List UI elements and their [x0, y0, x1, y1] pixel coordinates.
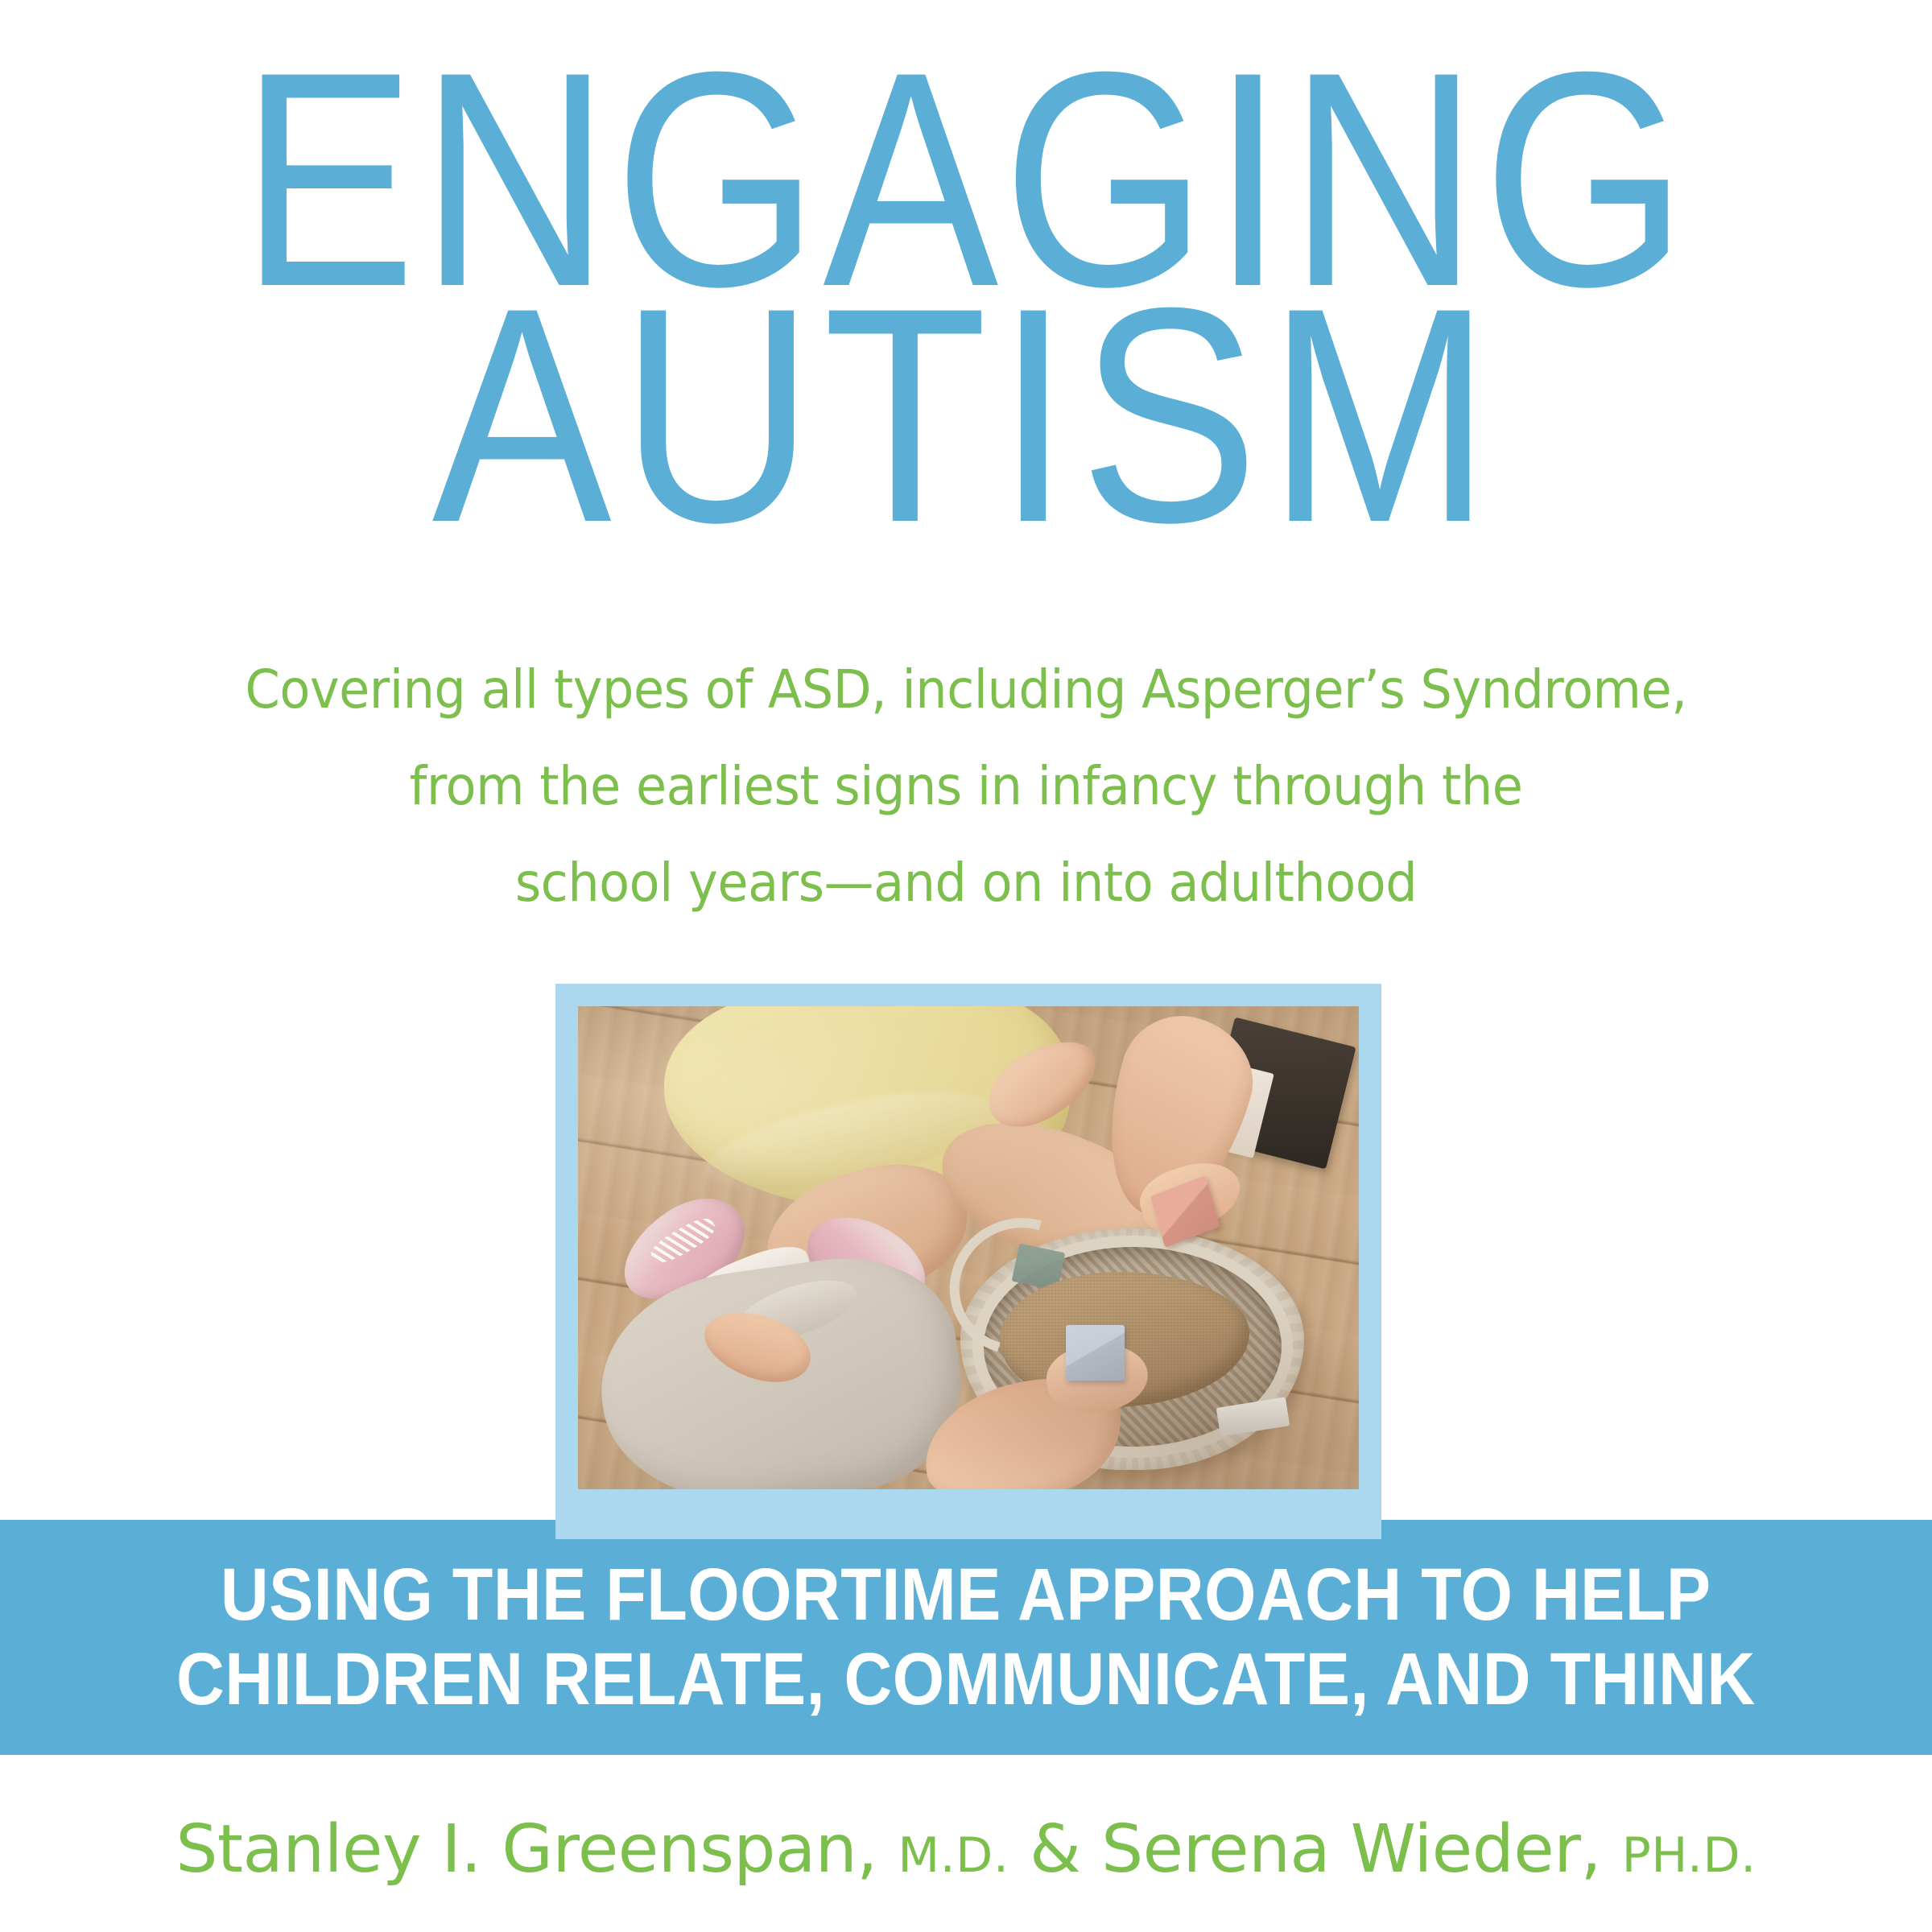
author-two-degree: PH.D.: [1622, 1827, 1757, 1884]
author-two-name: Serena Wieder,: [1101, 1811, 1601, 1888]
subtitle-line-2: from the earliest signs in infancy throu…: [58, 760, 1874, 813]
book-cover: ENGAGING AUTISM Covering all types of AS…: [0, 0, 1932, 1932]
subtitle: Covering all types of ASD, including Asp…: [0, 663, 1932, 953]
author-byline: Stanley I. Greenspan, M.D. & Serena Wied…: [0, 1811, 1932, 1888]
photo-grey-block: [1066, 1325, 1125, 1381]
cover-photo: [578, 1006, 1359, 1489]
author-one-degree: M.D.: [898, 1827, 1009, 1884]
page-title: ENGAGING AUTISM: [0, 48, 1932, 547]
title-line-autism: AUTISM: [116, 284, 1816, 547]
band-line-1: USING THE FLOORTIME APPROACH TO HELP: [221, 1553, 1711, 1637]
band-line-2: CHILDREN RELATE, COMMUNICATE, AND THINK: [176, 1637, 1756, 1722]
author-one-name: Stanley I. Greenspan,: [175, 1811, 877, 1888]
subtitle-band: USING THE FLOORTIME APPROACH TO HELP CHI…: [0, 1520, 1932, 1755]
subtitle-line-3: school years—and on into adulthood: [58, 857, 1874, 910]
byline-ampersand: &: [1030, 1811, 1080, 1888]
subtitle-line-1: Covering all types of ASD, including Asp…: [58, 663, 1874, 716]
cover-photo-frame: [555, 984, 1381, 1539]
